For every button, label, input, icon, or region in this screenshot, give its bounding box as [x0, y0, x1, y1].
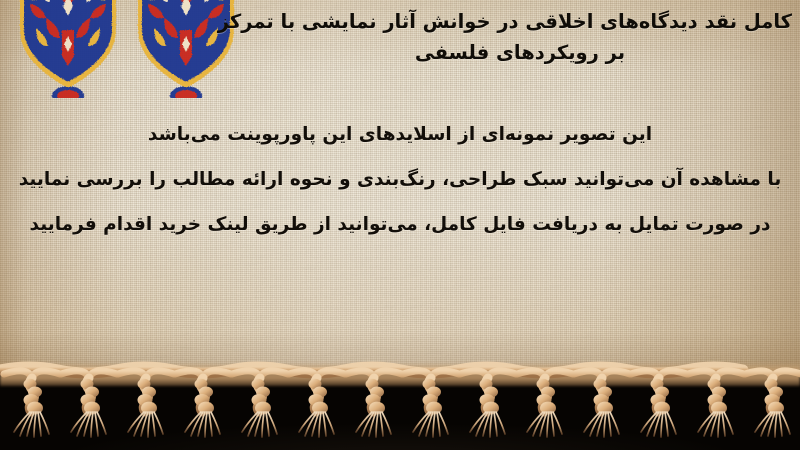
presentation-slide: کامل نقد دیدگاه‌های اخلاقی در خوانش آثار… [0, 0, 800, 450]
title-line-1: کامل نقد دیدگاه‌های اخلاقی در خوانش آثار… [248, 6, 792, 37]
body-line-1: این تصویر نمونه‌ای از اسلایدهای این پاور… [0, 112, 800, 157]
body-line-3: در صورت تمایل به دریافت فایل کامل، می‌تو… [0, 202, 800, 247]
slide-body-text: این تصویر نمونه‌ای از اسلایدهای این پاور… [0, 112, 800, 247]
body-line-2: با مشاهده آن می‌توانید سبک طراحی، رنگ‌بن… [0, 157, 800, 202]
carpet-fringe-tassels-icon [0, 360, 800, 450]
slide-title: کامل نقد دیدگاه‌های اخلاقی در خوانش آثار… [248, 6, 792, 68]
carpet-medallion-left-icon [16, 0, 120, 98]
title-line-2: بر رویکردهای فلسفی [248, 37, 792, 68]
